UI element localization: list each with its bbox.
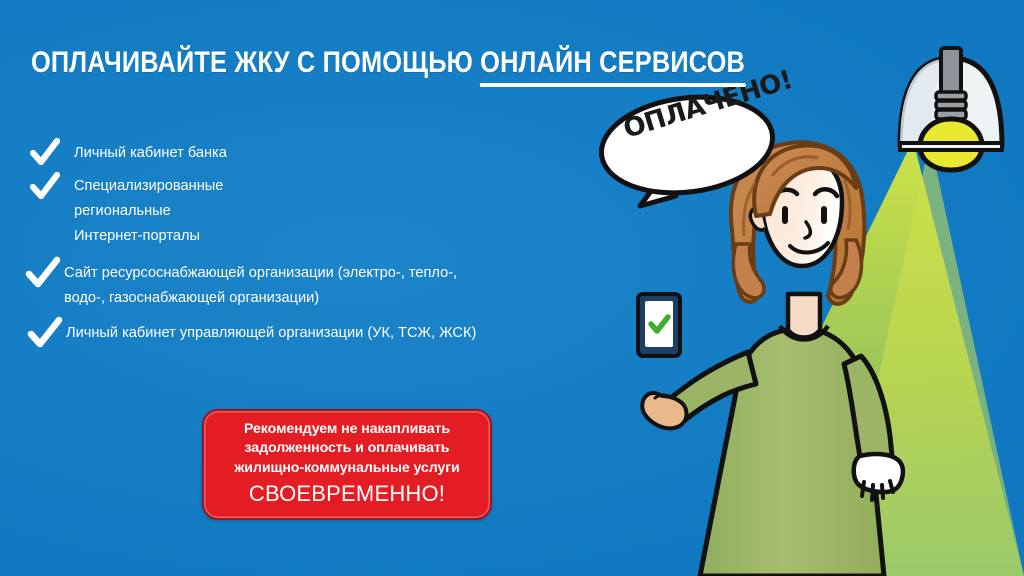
phone	[638, 294, 680, 356]
warning-text: Рекомендуем не накапливать задолженность…	[234, 420, 459, 479]
list-item: Личный кабинет управляющей организации (…	[0, 313, 600, 346]
warning-emphasis: СВОЕВРЕМЕННО!	[249, 481, 445, 507]
list-item-label: Личный кабинет управляющей организации (…	[0, 313, 600, 346]
list-item: Сайт ресурсоснабжающей организации (элек…	[0, 251, 600, 311]
check-icon	[28, 317, 62, 351]
check-icon	[26, 257, 60, 291]
woman-illustration	[638, 142, 903, 576]
page-title-prefix: ОПЛАЧИВАЙТЕ ЖКУ С ПОМОЩЬЮ	[31, 46, 480, 79]
list-item-label: Сайт ресурсоснабжающей организации (элек…	[0, 251, 600, 311]
check-icon	[30, 172, 60, 202]
lamp	[900, 48, 1002, 170]
warning-box: Рекомендуем не накапливать задолженность…	[202, 409, 492, 520]
infographic-slide: ОПЛАЧЕНО! ОПЛАЧИВАЙТЕ ЖКУ С ПОМОЩЬЮ ОНЛА…	[0, 0, 1024, 576]
page-title: ОПЛАЧИВАЙТЕ ЖКУ С ПОМОЩЬЮ ОНЛАЙН СЕРВИСО…	[31, 48, 745, 78]
benefits-list: Личный кабинет банка Специализированные …	[0, 128, 600, 348]
list-item-label: Личный кабинет банка	[0, 128, 600, 166]
list-item-label: Специализированные региональные Интернет…	[0, 168, 600, 249]
list-item: Специализированные региональные Интернет…	[0, 168, 600, 249]
page-title-underlined: ОНЛАЙН СЕРВИСОВ	[480, 46, 745, 79]
list-item: Личный кабинет банка	[0, 128, 600, 166]
check-icon	[30, 138, 60, 168]
